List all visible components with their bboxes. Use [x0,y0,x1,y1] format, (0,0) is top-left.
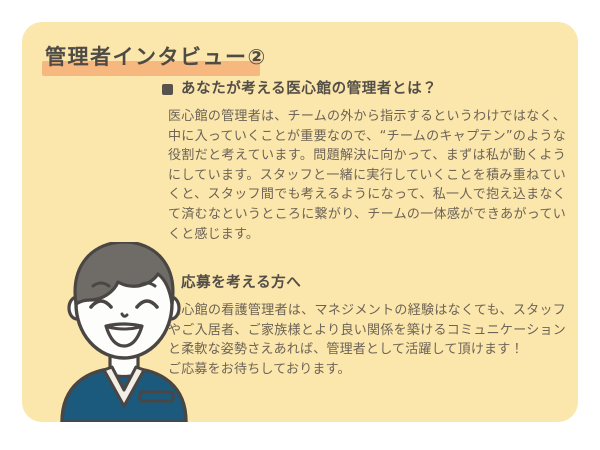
section-heading-1-text: あなたが考える医心館の管理者とは？ [181,80,437,98]
section-divider-space [162,252,566,274]
section-question-1: あなたが考える医心館の管理者とは？ 医心館の管理者は、チームの外から指示するとい… [162,80,566,244]
section-heading-2-text: 応募を考える方へ [181,274,301,292]
page-title: 管理者インタビュー② [42,42,267,78]
interview-card: 管理者インタビュー② あなたが考える医心館の管理者とは？ 医心館の管理者は、チー… [22,22,578,422]
smiling-nurse-manager-illustration [58,242,190,422]
section-body-2: 医心館の看護管理者は、マネジメントの経験はなくても、スタッフやご入居者、ご家族様… [168,301,566,379]
page-root: 管理者インタビュー② あなたが考える医心館の管理者とは？ 医心館の管理者は、チー… [0,0,600,450]
section-body-1: 医心館の管理者は、チームの外から指示するというわけではなく、中に入っていくことが… [168,107,566,244]
interview-content: あなたが考える医心館の管理者とは？ 医心館の管理者は、チームの外から指示するとい… [162,80,566,388]
page-title-text: 管理者インタビュー② [42,42,267,72]
section-question-2: 応募を考える方へ 医心館の看護管理者は、マネジメントの経験はなくても、スタッフや… [162,274,566,379]
section-heading-2: 応募を考える方へ [162,274,566,292]
section-heading-1: あなたが考える医心館の管理者とは？ [162,80,566,98]
person-svg [58,242,190,422]
filled-square-bullet-icon [162,84,173,95]
